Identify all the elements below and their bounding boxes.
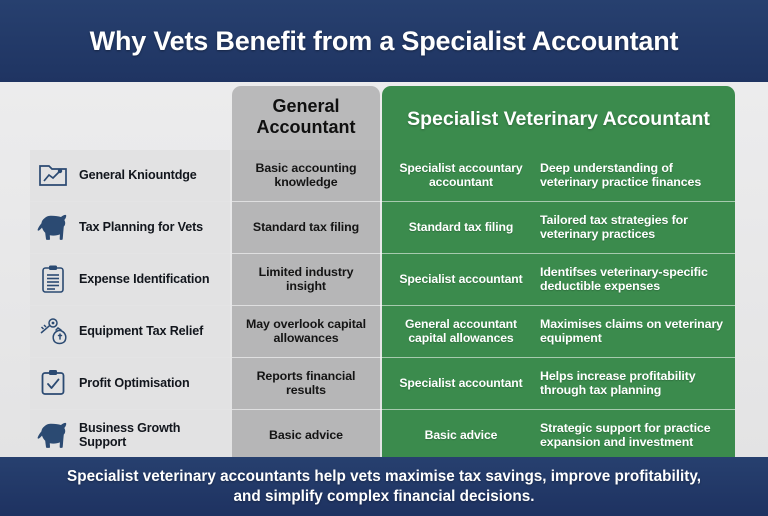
table-row: Profit Optimisation Reports financial re… (0, 358, 768, 409)
image-chart-icon (36, 158, 70, 192)
feature-label: Expense Identification (79, 272, 209, 287)
footer-banner: Specialist veterinary accountants help v… (0, 457, 768, 516)
specialist-echo-text: Basic advice (386, 428, 536, 442)
clipboard-lines-icon (36, 262, 70, 296)
general-cell: Basic accounting knowledge (232, 150, 380, 201)
feature-label: Tax Planning for Vets (79, 220, 203, 235)
specialist-text: Identifses veterinary-specific deductibl… (536, 265, 731, 294)
general-text: May overlook capital allowances (237, 317, 375, 346)
general-text: Limited industry insight (237, 265, 375, 294)
specialist-text: Tailored tax strategies for veterinary p… (536, 213, 731, 242)
specialist-echo-text: Specialist accountant (386, 272, 536, 286)
specialist-cell: Specialist accountant Identifses veterin… (382, 254, 735, 305)
specialist-echo-text: Standard tax filing (386, 220, 536, 234)
feature-cell: General Kniountdge (30, 150, 230, 201)
specialist-text: Helps increase profitability through tax… (536, 369, 731, 398)
feature-cell: Equipment Tax Relief (30, 306, 230, 357)
page-title: Why Vets Benefit from a Specialist Accou… (90, 26, 679, 57)
general-cell: Limited industry insight (232, 254, 380, 305)
key-moneybag-icon (36, 314, 70, 348)
specialist-text: Deep understanding of veterinary practic… (536, 161, 731, 190)
specialist-cell: Specialist accountant Helps increase pro… (382, 358, 735, 409)
comparison-board: General Accountant Specialist Veterinary… (0, 82, 768, 457)
feature-label: Profit Optimisation (79, 376, 190, 391)
specialist-cell: General accountant capital allowances Ma… (382, 306, 735, 357)
specialist-echo-text: General accountant capital allowances (386, 317, 536, 346)
general-text: Standard tax filing (253, 220, 359, 235)
dog-icon (36, 210, 70, 244)
specialist-text: Strategic support for practice expansion… (536, 421, 731, 450)
general-cell: Reports financial results (232, 358, 380, 409)
feature-label: Business Growth Support (79, 421, 230, 450)
general-text: Reports financial results (237, 369, 375, 398)
specialist-cell: Specialist accountary accountant Deep un… (382, 150, 735, 201)
infographic-root: Why Vets Benefit from a Specialist Accou… (0, 0, 768, 516)
general-text: Basic advice (269, 428, 343, 443)
feature-label: General Kniountdge (79, 168, 197, 183)
table-row: Equipment Tax Relief May overlook capita… (0, 306, 768, 357)
specialist-echo-text: Specialist accountary accountant (386, 161, 536, 190)
column-header-general: General Accountant (232, 96, 380, 137)
column-header-specialist: Specialist Veterinary Accountant (382, 108, 735, 130)
feature-cell: Tax Planning for Vets (30, 202, 230, 253)
specialist-cell: Standard tax filing Tailored tax strateg… (382, 202, 735, 253)
table-row: General Kniountdge Basic accounting know… (0, 150, 768, 201)
comparison-rows: General Kniountdge Basic accounting know… (0, 150, 768, 461)
feature-label: Equipment Tax Relief (79, 324, 203, 339)
feature-cell: Profit Optimisation (30, 358, 230, 409)
general-text: Basic accounting knowledge (237, 161, 375, 190)
table-row: Business Growth Support Basic advice Bas… (0, 410, 768, 461)
dog-icon (36, 418, 70, 452)
general-cell: Standard tax filing (232, 202, 380, 253)
feature-cell: Expense Identification (30, 254, 230, 305)
footer-summary-text: Specialist veterinary accountants help v… (54, 467, 714, 506)
general-cell: Basic advice (232, 410, 380, 461)
table-row: Tax Planning for Vets Standard tax filin… (0, 202, 768, 253)
specialist-text: Maximises claims on veterinary equipment (536, 317, 731, 346)
general-cell: May overlook capital allowances (232, 306, 380, 357)
feature-cell: Business Growth Support (30, 410, 230, 461)
table-row: Expense Identification Limited industry … (0, 254, 768, 305)
clipboard-check-icon (36, 366, 70, 400)
specialist-cell: Basic advice Strategic support for pract… (382, 410, 735, 461)
title-banner: Why Vets Benefit from a Specialist Accou… (0, 0, 768, 82)
specialist-echo-text: Specialist accountant (386, 376, 536, 390)
